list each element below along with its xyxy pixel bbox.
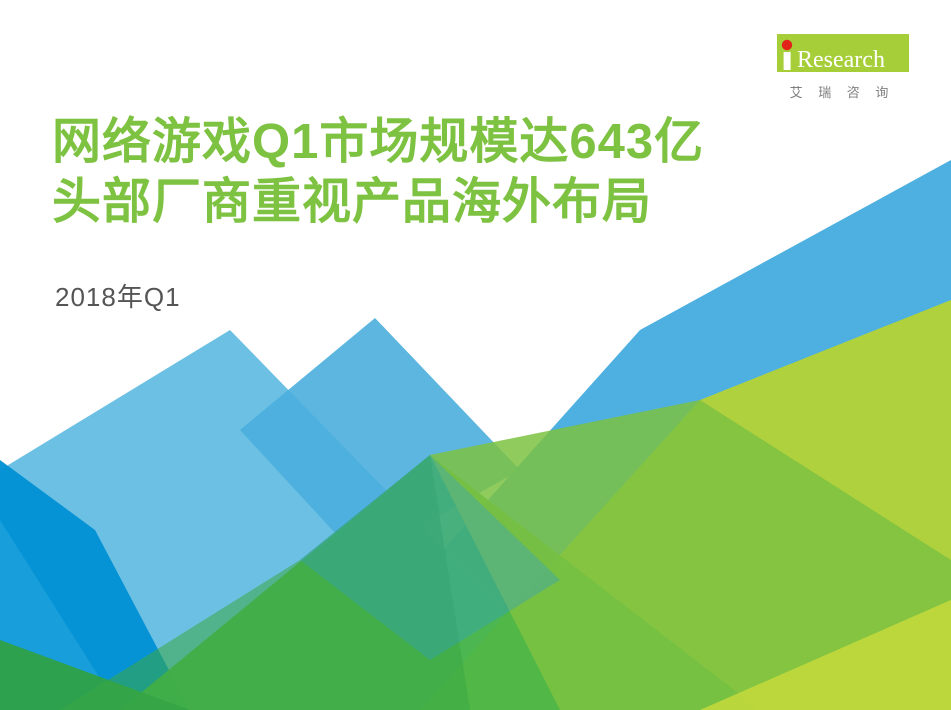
background-artwork	[0, 0, 951, 710]
slide-canvas: Research 艾 瑞 咨 询 网络游戏Q1市场规模达643亿 头部厂商重视产…	[0, 0, 951, 710]
logo: Research 艾 瑞 咨 询	[769, 34, 909, 101]
slide-subtitle: 2018年Q1	[55, 277, 181, 314]
logo-wordmark: Research	[797, 47, 885, 73]
page-title: 网络游戏Q1市场规模达643亿 头部厂商重视产品海外布局	[52, 112, 892, 232]
title-line-1: 网络游戏Q1市场规模达643亿	[52, 112, 892, 172]
logo-chinese-label: 艾 瑞 咨 询	[769, 82, 909, 101]
title-line-2: 头部厂商重视产品海外布局	[52, 172, 892, 232]
iresearch-logo-icon: Research	[769, 34, 909, 78]
